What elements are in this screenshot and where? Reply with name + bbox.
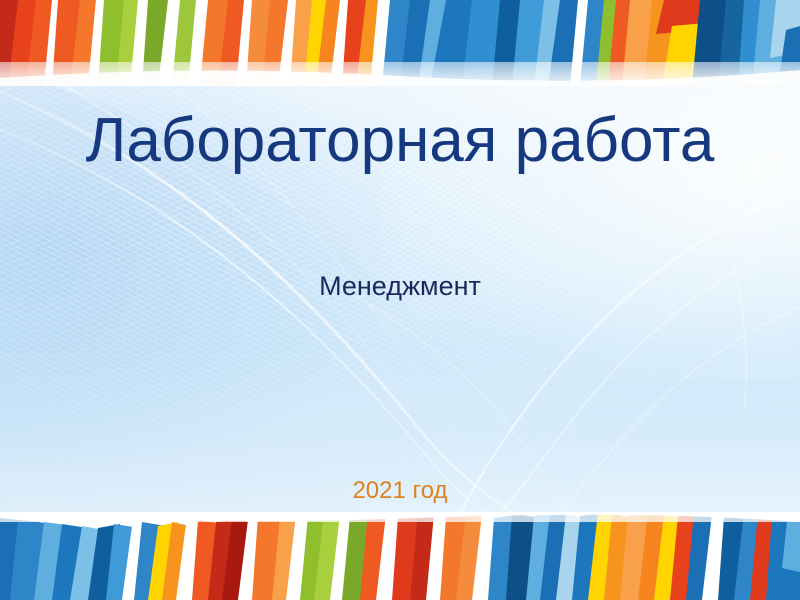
bottom-border-shards [0,512,800,600]
top-decorative-border [0,0,800,86]
bottom-decorative-border [0,512,800,600]
slide-subtitle: Менеджмент [0,271,800,302]
slide-title: Лабораторная работа [0,108,800,173]
slide-year: 2021 год [0,477,800,505]
top-border-shards [0,0,800,86]
presentation-slide: Лабораторная работа Менеджмент 2021 год [0,0,800,600]
